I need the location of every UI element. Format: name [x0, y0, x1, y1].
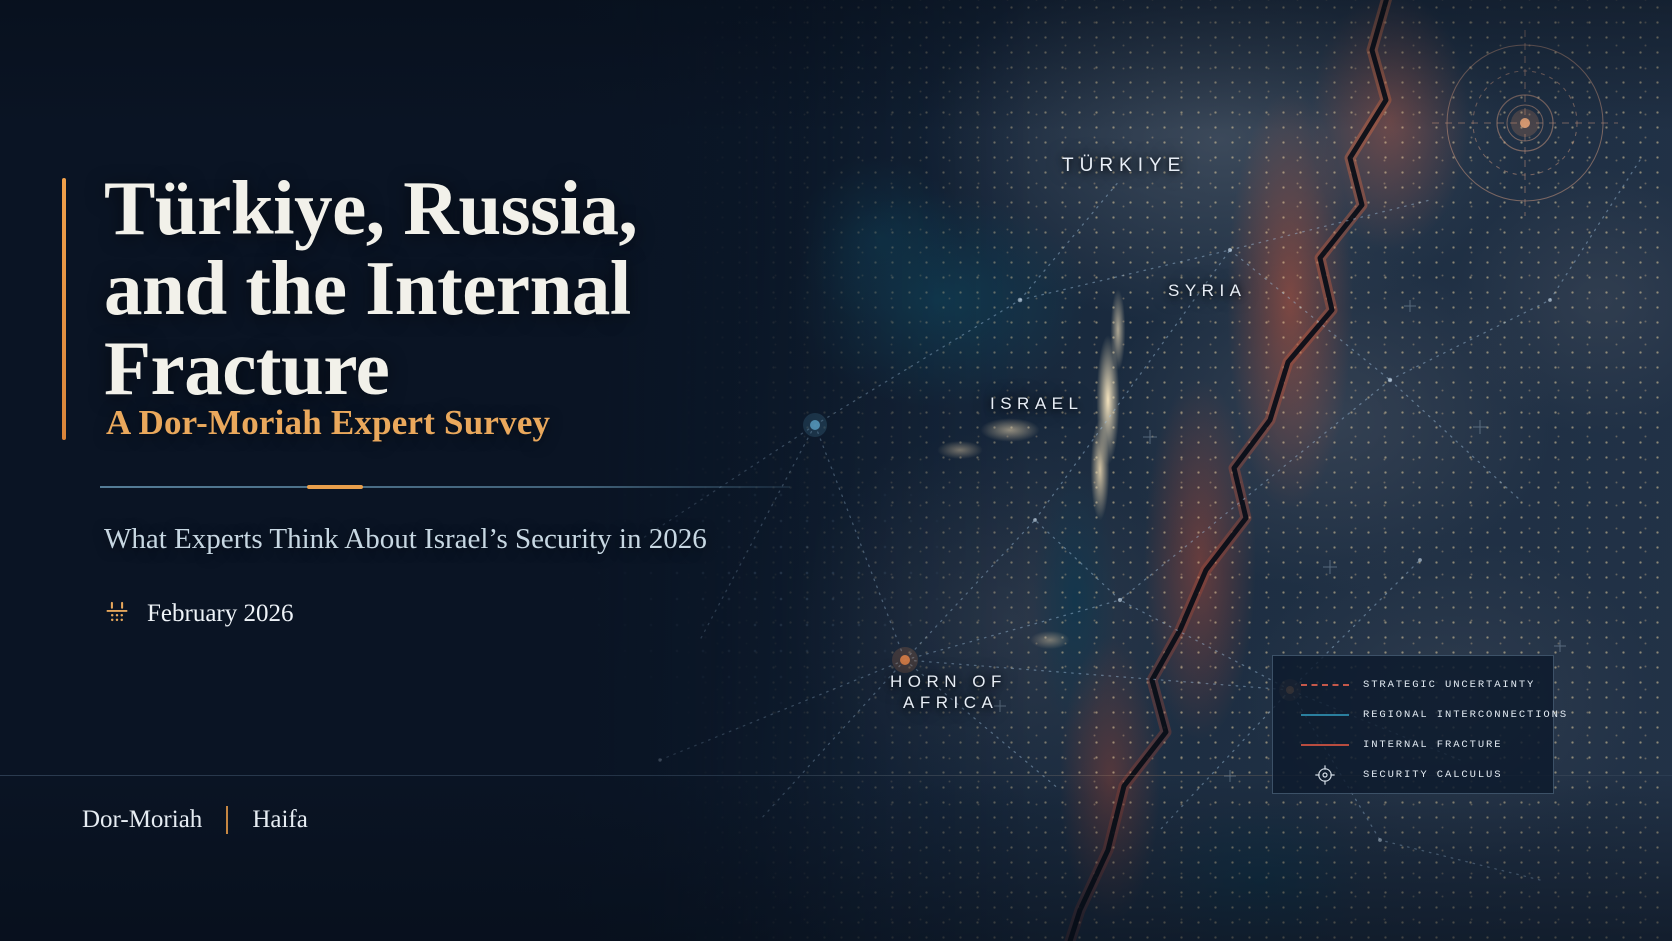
- map-label-turkiye: TÜRKIYE: [1062, 155, 1186, 177]
- page-title-line-1: Türkiye, Russia,: [104, 165, 637, 251]
- title-slide: TÜRKIYE SYRIA ISRAEL HORN OF AFRICA Türk…: [0, 0, 1672, 941]
- divider-line: [100, 486, 790, 488]
- map-label-horn-of-africa-line1: HORN OF: [890, 671, 1007, 694]
- divider-accent-tick: [307, 485, 363, 489]
- legend-item-internal-fracture: INTERNAL FRACTURE: [1273, 730, 1553, 760]
- map-label-horn-of-africa-line2: AFRICA: [903, 692, 998, 715]
- footer: Dor-Moriah Haifa: [82, 806, 308, 834]
- footer-organization: Dor-Moriah: [82, 806, 202, 834]
- map-legend: STRATEGIC UNCERTAINTY REGIONAL INTERCONN…: [1272, 655, 1554, 794]
- page-title-line-2: and the Internal Fracture: [104, 248, 834, 408]
- gold-accent-bar: [62, 178, 66, 440]
- legend-item-strategic-uncertainty: STRATEGIC UNCERTAINTY: [1273, 670, 1553, 700]
- map-label-israel: ISRAEL: [990, 394, 1083, 414]
- solid-line-icon: [1299, 714, 1351, 716]
- date-text: February 2026: [147, 600, 294, 628]
- legend-item-regional-interconnections: REGIONAL INTERCONNECTIONS: [1273, 700, 1553, 730]
- tagline: What Experts Think About Israel’s Securi…: [104, 523, 707, 556]
- date-row: February 2026: [104, 600, 294, 628]
- legend-label: STRATEGIC UNCERTAINTY: [1363, 679, 1535, 691]
- dashed-line-icon: [1299, 684, 1351, 686]
- solid-line-icon: [1299, 744, 1351, 746]
- legend-label: SECURITY CALCULUS: [1363, 769, 1502, 781]
- title-content-block: Türkiye, Russia, and the Internal Fractu…: [0, 0, 860, 941]
- footer-location: Haifa: [252, 806, 308, 834]
- legend-label: REGIONAL INTERCONNECTIONS: [1363, 709, 1568, 721]
- footer-separator: [226, 806, 228, 834]
- calendar-icon: [104, 601, 130, 627]
- section-divider: [100, 486, 790, 488]
- map-label-syria: SYRIA: [1168, 281, 1247, 301]
- crosshair-icon: [1299, 765, 1351, 785]
- subtitle: A Dor-Moriah Expert Survey: [106, 403, 550, 443]
- legend-label: INTERNAL FRACTURE: [1363, 739, 1502, 751]
- legend-item-security-calculus: SECURITY CALCULUS: [1273, 760, 1553, 790]
- page-title: Türkiye, Russia, and the Internal Fractu…: [104, 168, 834, 408]
